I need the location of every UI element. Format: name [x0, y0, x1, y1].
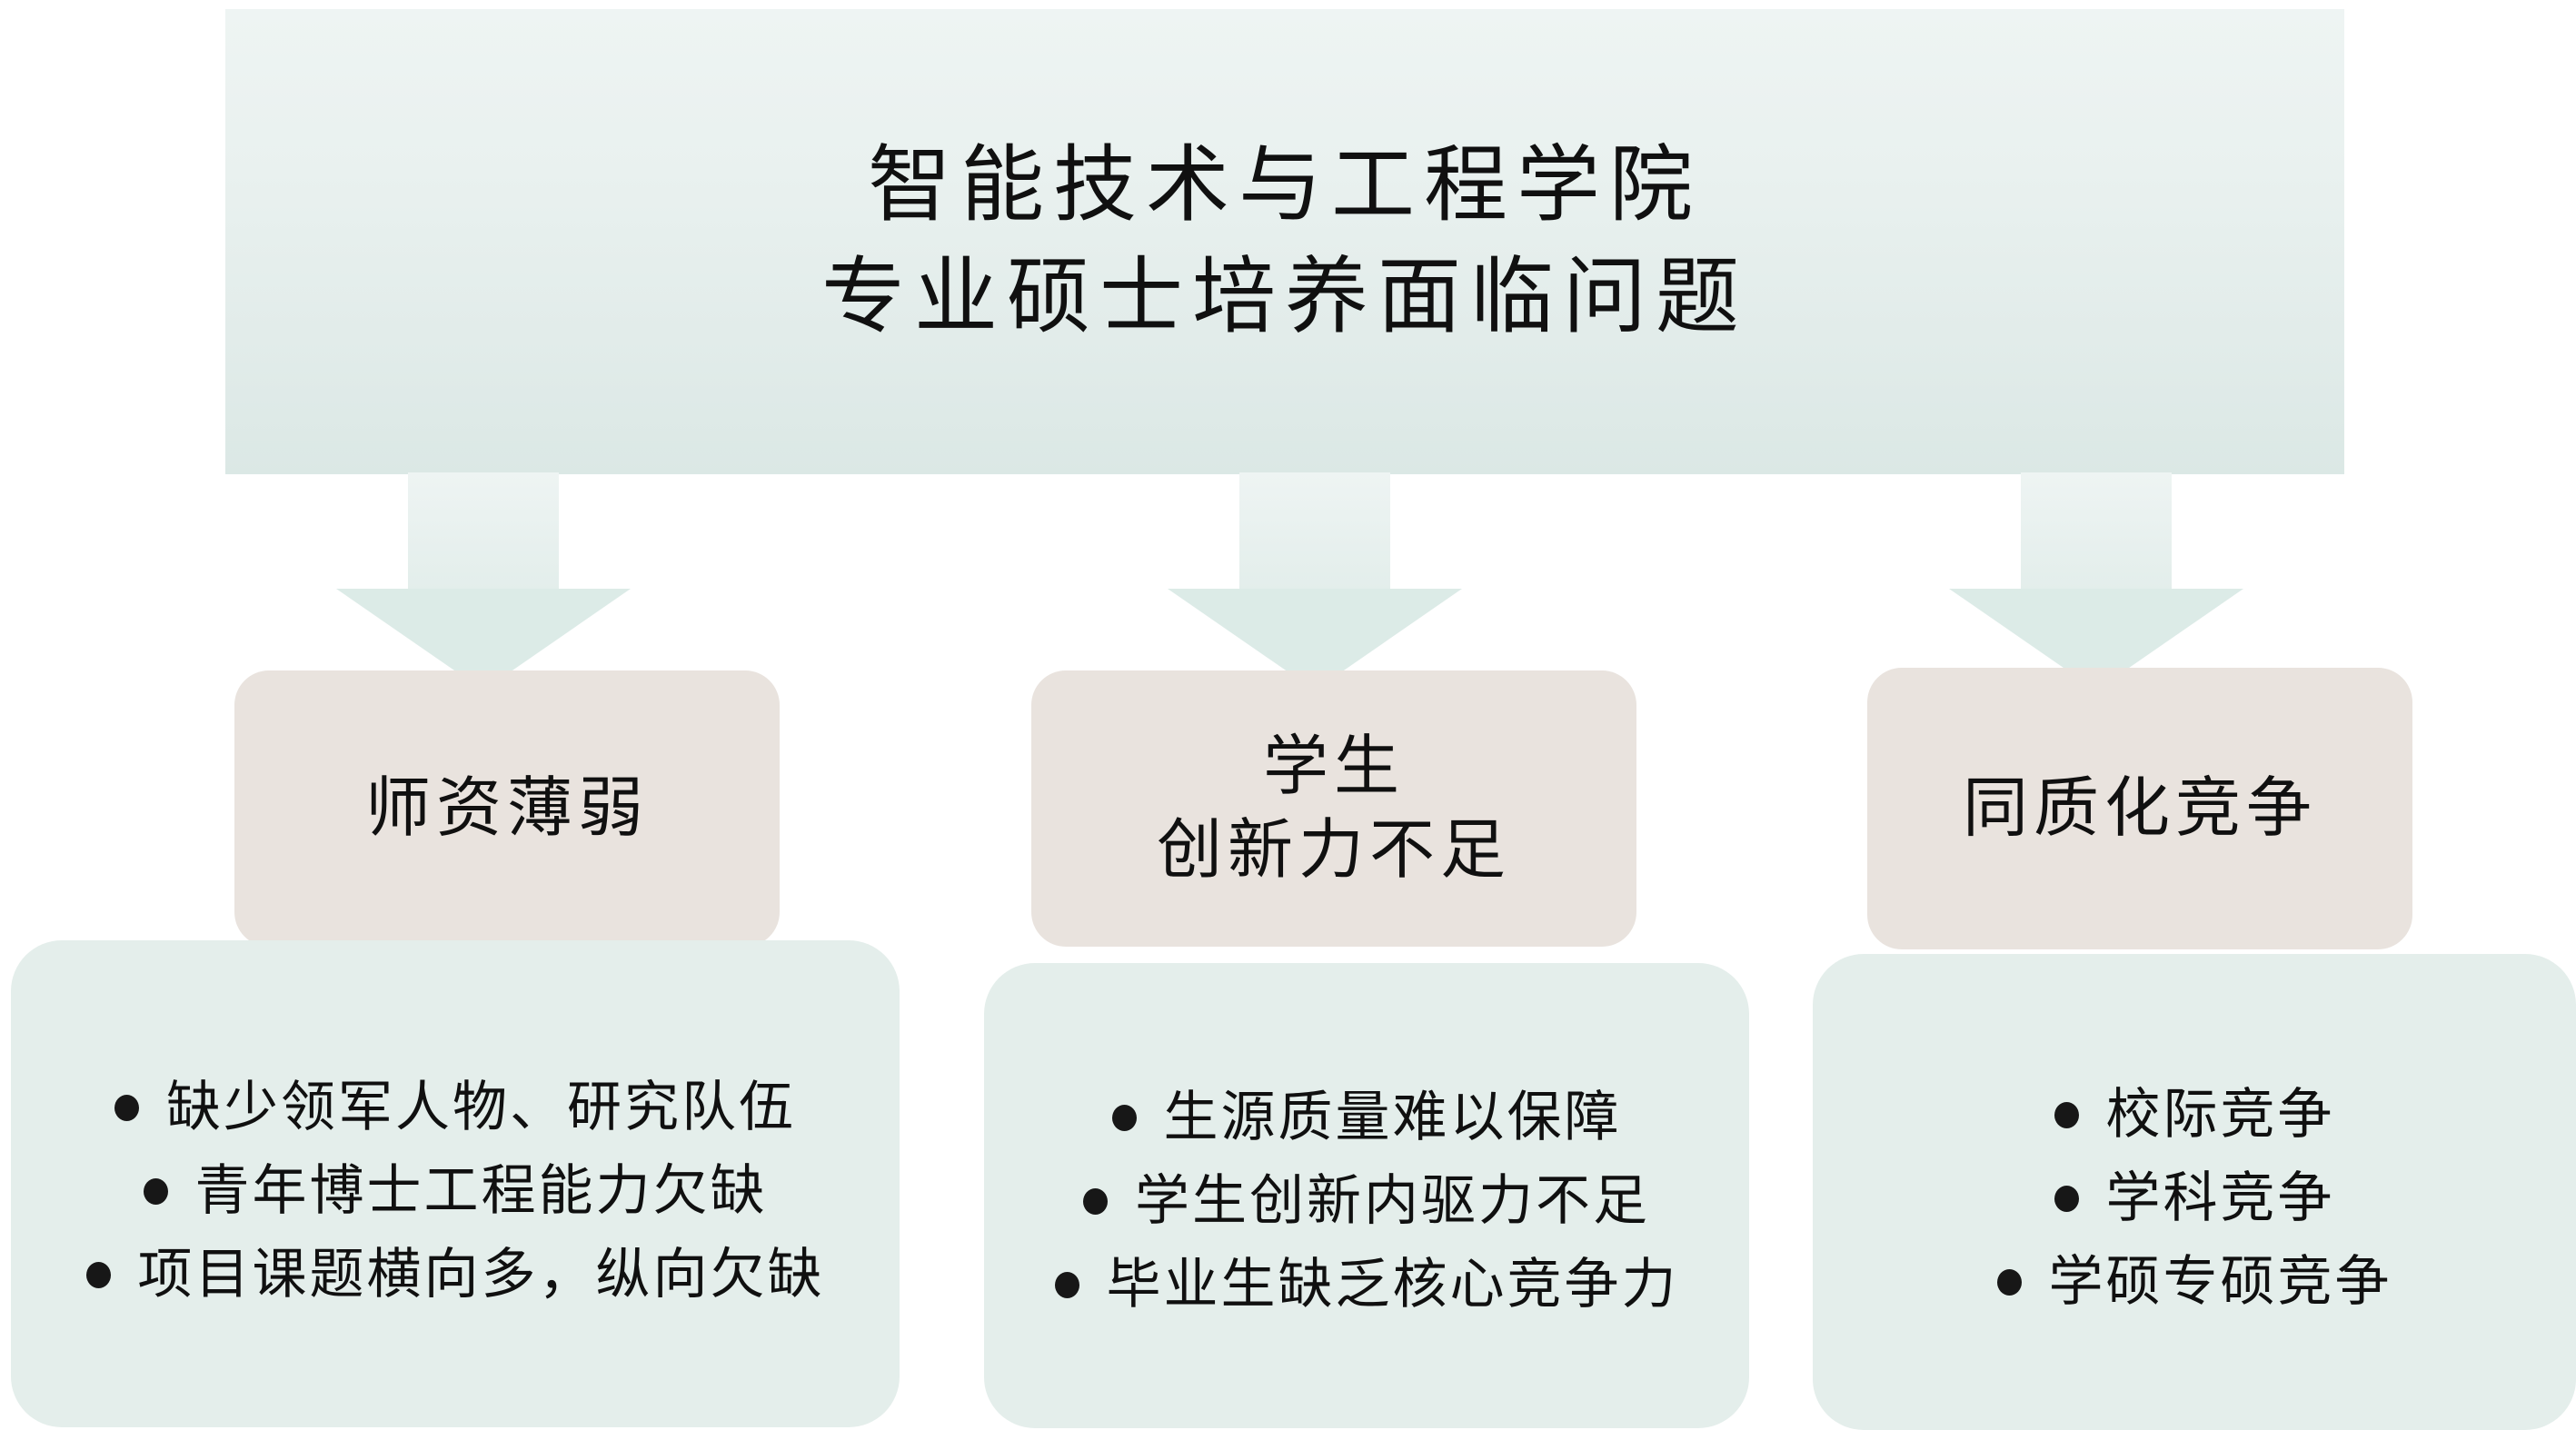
arrow-shaft — [408, 472, 559, 591]
list-item-label: 学生创新内驱力不足 — [1135, 1171, 1650, 1231]
arrow-shaft — [2021, 472, 2172, 591]
list-item-label: 毕业生缺乏核心竞争力 — [1107, 1255, 1679, 1315]
list-item-label: 学科竞争 — [2106, 1168, 2335, 1228]
bullet-dot-icon — [144, 1178, 168, 1205]
bullet-dot-icon — [86, 1262, 111, 1288]
bullet-dot-icon — [1055, 1272, 1079, 1298]
category-title-line: 学生 — [1263, 725, 1405, 809]
title-line-2: 专业硕士培养面临问题 — [821, 242, 1748, 353]
arrow-to-competition-icon — [1949, 472, 2243, 690]
list-item[interactable]: 学生创新内驱力不足 — [1083, 1159, 1650, 1243]
list-item-label: 校际竞争 — [2106, 1085, 2335, 1145]
bullet-dot-icon — [114, 1095, 139, 1121]
list-item[interactable]: 毕业生缺乏核心竞争力 — [1055, 1243, 1679, 1326]
bullet-dot-icon — [1083, 1188, 1108, 1215]
list-item[interactable]: 项目课题横向多，纵向欠缺 — [86, 1233, 825, 1316]
category-card-students[interactable]: 学生 创新力不足 — [1031, 670, 1636, 947]
title-line-1: 智能技术与工程学院 — [868, 130, 1702, 242]
list-item[interactable]: 学硕专硕竞争 — [1997, 1240, 2392, 1324]
category-title-line: 创新力不足 — [1157, 809, 1511, 892]
list-item-label: 缺少领军人物、研究队伍 — [166, 1077, 796, 1137]
list-item[interactable]: 学科竞争 — [2054, 1157, 2335, 1240]
list-item[interactable]: 生源质量难以保障 — [1112, 1076, 1622, 1159]
bullet-panel-competition: 校际竞争 学科竞争 学硕专硕竞争 — [1813, 954, 2576, 1430]
category-card-faculty[interactable]: 师资薄弱 — [234, 670, 780, 947]
category-card-competition[interactable]: 同质化竞争 — [1867, 668, 2412, 949]
bullet-dot-icon — [2054, 1102, 2079, 1128]
title-banner: 智能技术与工程学院 专业硕士培养面临问题 — [225, 9, 2344, 474]
bullet-dot-icon — [1997, 1269, 2022, 1296]
bullet-panel-faculty: 缺少领军人物、研究队伍 青年博士工程能力欠缺 项目课题横向多，纵向欠缺 — [11, 940, 900, 1427]
list-item-label: 项目课题横向多，纵向欠缺 — [138, 1245, 825, 1305]
bullet-dot-icon — [1112, 1105, 1137, 1131]
list-item[interactable]: 缺少领军人物、研究队伍 — [114, 1066, 796, 1149]
bullet-dot-icon — [2054, 1186, 2079, 1212]
arrow-to-faculty-icon — [336, 472, 631, 690]
list-item[interactable]: 青年博士工程能力欠缺 — [144, 1149, 768, 1233]
category-title-line: 同质化竞争 — [1963, 767, 2317, 850]
bullet-panel-students: 生源质量难以保障 学生创新内驱力不足 毕业生缺乏核心竞争力 — [984, 963, 1749, 1428]
arrow-to-students-icon — [1168, 472, 1462, 690]
list-item-label: 学硕专硕竞争 — [2049, 1252, 2392, 1312]
category-title-line: 师资薄弱 — [365, 767, 649, 850]
list-item-label: 生源质量难以保障 — [1164, 1087, 1622, 1147]
list-item-label: 青年博士工程能力欠缺 — [195, 1161, 768, 1221]
list-item[interactable]: 校际竞争 — [2054, 1073, 2335, 1157]
arrow-shaft — [1239, 472, 1390, 591]
